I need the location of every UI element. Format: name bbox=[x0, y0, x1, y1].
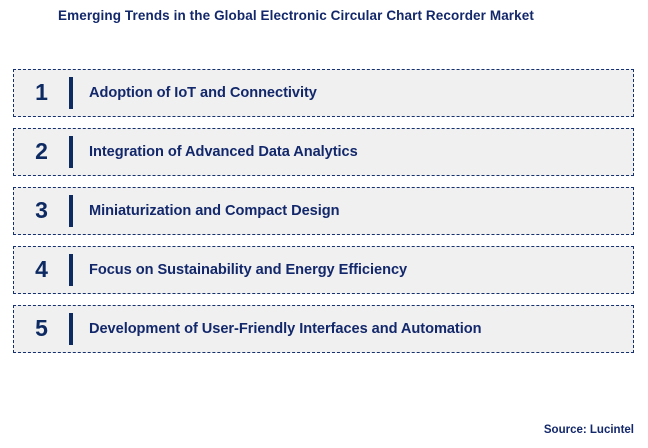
trend-label: Miniaturization and Compact Design bbox=[73, 203, 633, 219]
list-item: 5 Development of User-Friendly Interface… bbox=[13, 305, 634, 353]
trend-rank-number: 5 bbox=[14, 317, 69, 342]
list-item: 2 Integration of Advanced Data Analytics bbox=[13, 128, 634, 176]
infographic-root: Emerging Trends in the Global Electronic… bbox=[0, 0, 648, 448]
page-title: Emerging Trends in the Global Electronic… bbox=[58, 8, 618, 23]
trend-rank-number: 3 bbox=[14, 199, 69, 224]
trend-label: Adoption of IoT and Connectivity bbox=[73, 85, 633, 101]
trend-label: Development of User-Friendly Interfaces … bbox=[73, 321, 633, 337]
trend-list: 1 Adoption of IoT and Connectivity 2 Int… bbox=[13, 69, 634, 353]
list-item: 1 Adoption of IoT and Connectivity bbox=[13, 69, 634, 117]
trend-rank-number: 1 bbox=[14, 81, 69, 106]
trend-label: Integration of Advanced Data Analytics bbox=[73, 144, 633, 160]
trend-rank-number: 4 bbox=[14, 258, 69, 283]
list-item: 3 Miniaturization and Compact Design bbox=[13, 187, 634, 235]
source-attribution: Source: Lucintel bbox=[544, 424, 634, 436]
list-item: 4 Focus on Sustainability and Energy Eff… bbox=[13, 246, 634, 294]
trend-label: Focus on Sustainability and Energy Effic… bbox=[73, 262, 633, 278]
trend-rank-number: 2 bbox=[14, 140, 69, 165]
